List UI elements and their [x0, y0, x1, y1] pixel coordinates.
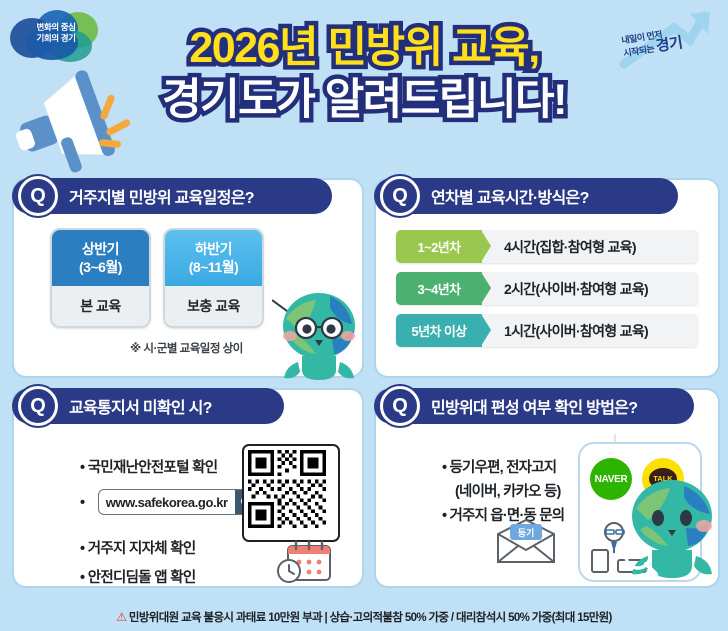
table-row: 5년차 이상 1시간(사이버·참여형 교육)	[396, 314, 698, 347]
question-badge-icon: Q	[380, 176, 420, 216]
term-box-second-half-header: 하반기 (8~11월)	[165, 230, 262, 286]
year-tier-tag-3: 5년차 이상	[396, 314, 482, 347]
poster-root: 변화의 중심 기회의 경기 내일이 먼저 시작되는 경기	[0, 0, 728, 631]
list-item: 안전디딤돌 앱 확인	[80, 566, 290, 587]
year-tier-tag-1: 1~2년차	[396, 230, 482, 263]
card3-heading: 교육통지서 미확인 시?	[69, 394, 212, 418]
card2-header: Q 연차별 교육시간·방식은?	[374, 178, 678, 214]
term-name-1: 상반기	[82, 240, 119, 258]
qr-code-icon[interactable]	[242, 444, 340, 542]
year-tier-tag-2: 3~4년차	[396, 272, 482, 305]
term-box-first-half: 상반기 (3~6월) 본 교육	[50, 228, 151, 328]
footer-warning: ⚠ 민방위대원 교육 불응시 과태료 10만원 부과 | 상습·고의적불참 50…	[0, 609, 728, 625]
card1-header: Q 거주지별 민방위 교육일정은?	[12, 178, 332, 214]
gyeonggi-brand-logo: 변화의 중심 기회의 경기	[8, 8, 104, 64]
term-box-first-half-header: 상반기 (3~6월)	[52, 230, 149, 286]
card4-header: Q 민방위대 편성 여부 확인 방법은?	[374, 388, 694, 424]
envelope-icon: 등기	[494, 518, 558, 564]
term-box-group: 상반기 (3~6월) 본 교육 하반기 (8~11월) 보충 교육	[50, 228, 264, 328]
year-tier-text-2: 2시간(사이버·참여형 교육)	[482, 272, 698, 305]
year-tier-text-3: 1시간(사이버·참여형 교육)	[482, 314, 698, 347]
card-hours-by-year: Q 연차별 교육시간·방식은? 1~2년차 4시간(집합·참여형 교육) 3~4…	[374, 178, 720, 378]
card2-heading: 연차별 교육시간·방식은?	[431, 184, 589, 208]
footer-text: 민방위대원 교육 불응시 과태료 10만원 부과 | 상습·고의적불참 50% …	[129, 612, 612, 624]
mascot-magnifier-icon	[618, 468, 722, 586]
term-box-second-half: 하반기 (8~11월) 보충 교육	[163, 228, 264, 328]
card3-header: Q 교육통지서 미확인 시?	[12, 388, 284, 424]
term-name-2: 하반기	[195, 240, 232, 258]
card1-heading: 거주지별 민방위 교육일정은?	[69, 184, 254, 208]
tomorrow-first-logo: 내일이 먼저 시작되는 경기	[618, 8, 718, 70]
brand-slogan: 변화의 중심 기회의 경기	[8, 22, 104, 44]
term-type-2: 보충 교육	[165, 286, 262, 326]
svg-text:등기: 등기	[518, 527, 535, 538]
card1-note: ※ 시·군별 교육일정 상이	[130, 340, 243, 356]
table-row: 3~4년차 2시간(사이버·참여형 교육)	[396, 272, 698, 305]
url-field[interactable]: www.safekorea.go.kr	[98, 489, 260, 515]
year-tier-text-1: 4시간(집합·참여형 교육)	[482, 230, 698, 263]
card4-heading: 민방위대 편성 여부 확인 방법은?	[431, 394, 637, 418]
year-tier-rows: 1~2년차 4시간(집합·참여형 교육) 3~4년차 2시간(사이버·참여형 교…	[396, 230, 698, 356]
mascot-pointing-icon	[272, 282, 366, 388]
term-type-1: 본 교육	[52, 286, 149, 326]
megaphone-icon	[8, 62, 148, 177]
question-badge-icon: Q	[380, 386, 420, 426]
brand-slogan-line1: 변화의 중심	[8, 22, 104, 33]
url-text: www.safekorea.go.kr	[99, 495, 235, 510]
term-months-1: (3~6월)	[79, 258, 122, 276]
warning-icon: ⚠	[116, 610, 126, 624]
term-months-2: (8~11월)	[189, 258, 238, 276]
table-row: 1~2년차 4시간(집합·참여형 교육)	[396, 230, 698, 263]
brand-slogan-line2: 기회의 경기	[8, 33, 104, 44]
question-badge-icon: Q	[18, 176, 58, 216]
calendar-clock-icon	[274, 540, 336, 584]
card-notice-not-received: Q 교육통지서 미확인 시? 국민재난안전포털 확인 www.safekorea…	[12, 388, 364, 588]
question-badge-icon: Q	[18, 386, 58, 426]
